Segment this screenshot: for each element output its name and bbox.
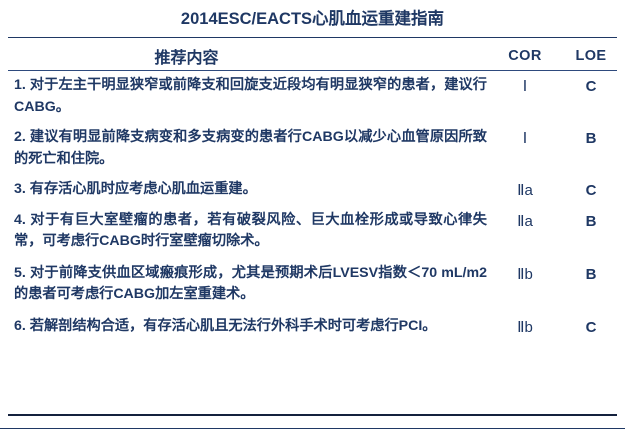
table-row: 3. 有存活心肌时应考虑心肌血运重建。 Ⅱa C: [0, 174, 625, 205]
table-row: 1. 对于左主干明显狭窄或前降支和回旋支近段均有明显狭窄的患者，建议行CABG。…: [0, 70, 625, 122]
recommendation-loe: C: [557, 70, 625, 122]
table-row: 2. 建议有明显前降支病变和多支病变的患者行CABG以减少心血管原因所致的死亡和…: [0, 122, 625, 174]
guideline-document: 2014ESC/EACTS心肌血运重建指南 推荐内容 COR LOE 1. 对于…: [0, 0, 625, 433]
recommendation-text: 4. 对于有巨大室壁瘤的患者，若有破裂风险、巨大血栓形成或导致心律失常，可考虑行…: [0, 205, 493, 258]
table-header-row: 推荐内容 COR LOE: [0, 41, 625, 70]
recommendation-text: 2. 建议有明显前降支病变和多支病变的患者行CABG以减少心血管原因所致的死亡和…: [0, 122, 493, 174]
recommendation-loe: C: [557, 174, 625, 205]
table-bottom-rule: [8, 414, 617, 416]
table-row: 4. 对于有巨大室壁瘤的患者，若有破裂风险、巨大血栓形成或导致心律失常，可考虑行…: [0, 205, 625, 258]
recommendation-cor: Ⅰ: [493, 70, 557, 122]
recommendation-cor: Ⅰ: [493, 122, 557, 174]
recommendation-cor: Ⅱb: [493, 258, 557, 311]
recommendation-loe: B: [557, 205, 625, 258]
recommendation-text: 5. 对于前降支供血区域瘢痕形成，尤其是预期术后LVESV指数＜70 mL/m2…: [0, 258, 493, 311]
recommendation-text: 3. 有存活心肌时应考虑心肌血运重建。: [0, 174, 493, 205]
recommendation-cor: Ⅱb: [493, 311, 557, 343]
page-footer-rule: [0, 428, 625, 429]
recommendation-text: 6. 若解剖结构合适，有存活心肌且无法行外科手术时可考虑行PCI。: [0, 311, 493, 343]
table-row: 6. 若解剖结构合适，有存活心肌且无法行外科手术时可考虑行PCI。 Ⅱb C: [0, 311, 625, 343]
column-header-cor: COR: [493, 41, 557, 70]
column-header-description: 推荐内容: [0, 41, 493, 70]
recommendation-cor: Ⅱa: [493, 205, 557, 258]
column-header-loe: LOE: [557, 41, 625, 70]
document-title: 2014ESC/EACTS心肌血运重建指南: [0, 0, 625, 30]
table-top-rule: [8, 37, 617, 38]
recommendation-loe: C: [557, 311, 625, 343]
recommendation-cor: Ⅱa: [493, 174, 557, 205]
recommendation-loe: B: [557, 258, 625, 311]
recommendations-table: 推荐内容 COR LOE 1. 对于左主干明显狭窄或前降支和回旋支近段均有明显狭…: [0, 41, 625, 342]
recommendation-text: 1. 对于左主干明显狭窄或前降支和回旋支近段均有明显狭窄的患者，建议行CABG。: [0, 70, 493, 122]
table-row: 5. 对于前降支供血区域瘢痕形成，尤其是预期术后LVESV指数＜70 mL/m2…: [0, 258, 625, 311]
recommendation-loe: B: [557, 122, 625, 174]
